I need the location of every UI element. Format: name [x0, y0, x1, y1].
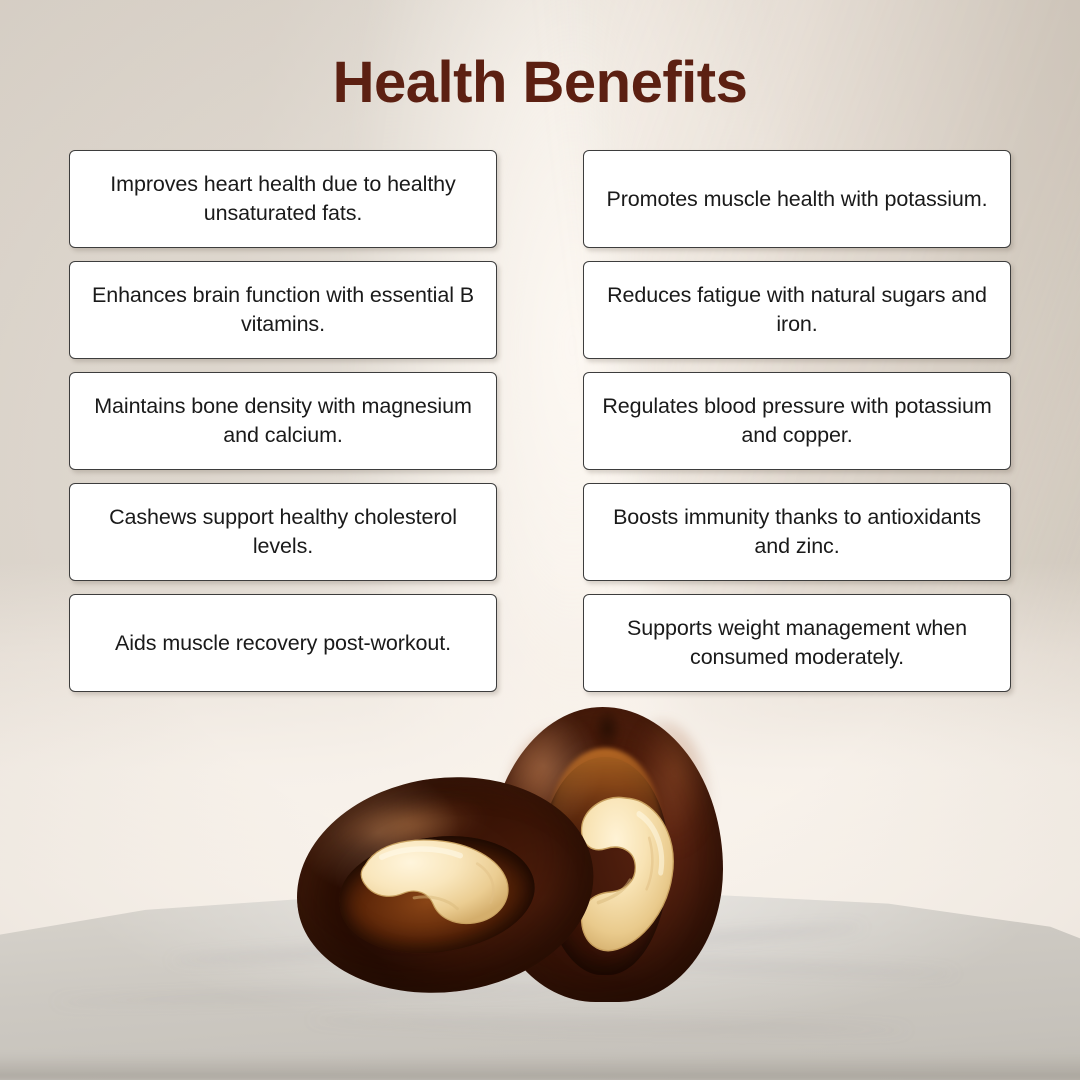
- benefits-grid: Improves heart health due to healthy uns…: [69, 150, 1011, 692]
- benefit-card-text: Cashews support healthy cholesterol leve…: [86, 503, 480, 561]
- benefit-card-text: Reduces fatigue with natural sugars and …: [600, 281, 994, 339]
- benefit-card-text: Supports weight management when consumed…: [600, 614, 994, 672]
- benefit-card-text: Regulates blood pressure with potassium …: [600, 392, 994, 450]
- product-photo: [0, 680, 1080, 1080]
- marble-vein: [308, 1016, 911, 1035]
- benefit-card[interactable]: Regulates blood pressure with potassium …: [583, 372, 1011, 470]
- benefit-card-text: Aids muscle recovery post-workout.: [115, 629, 451, 658]
- benefit-card-text: Maintains bone density with magnesium an…: [86, 392, 480, 450]
- benefit-card[interactable]: Cashews support healthy cholesterol leve…: [69, 483, 497, 581]
- benefit-card[interactable]: Aids muscle recovery post-workout.: [69, 594, 497, 692]
- page-title: Health Benefits: [0, 48, 1080, 118]
- benefit-card[interactable]: Boosts immunity thanks to antioxidants a…: [583, 483, 1011, 581]
- slab-front-edge: [0, 1054, 1080, 1080]
- benefit-card-text: Promotes muscle health with potassium.: [607, 185, 988, 214]
- benefit-card[interactable]: Maintains bone density with magnesium an…: [69, 372, 497, 470]
- benefit-card[interactable]: Improves heart health due to healthy uns…: [69, 150, 497, 248]
- benefit-card[interactable]: Promotes muscle health with potassium.: [583, 150, 1011, 248]
- cashew-nut-icon: [345, 833, 515, 937]
- benefit-card[interactable]: Supports weight management when consumed…: [583, 594, 1011, 692]
- date-front-halved-with-cashew: [284, 761, 606, 1010]
- benefit-card-text: Improves heart health due to healthy uns…: [86, 170, 480, 228]
- benefit-card[interactable]: Enhances brain function with essential B…: [69, 261, 497, 359]
- date-top-notch: [591, 710, 624, 751]
- benefit-card-text: Boosts immunity thanks to antioxidants a…: [600, 503, 994, 561]
- benefit-card-text: Enhances brain function with essential B…: [86, 281, 480, 339]
- benefit-card[interactable]: Reduces fatigue with natural sugars and …: [583, 261, 1011, 359]
